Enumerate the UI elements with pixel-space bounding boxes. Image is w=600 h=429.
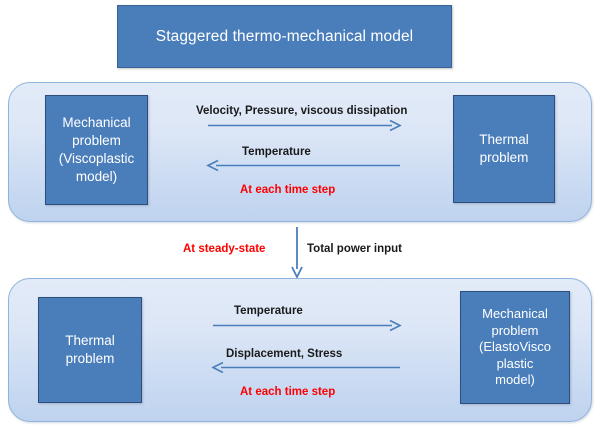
arrow-left-bottom bbox=[213, 362, 400, 373]
arrow-label-velocity-pressure-dissipation: Velocity, Pressure, viscous dissipation bbox=[196, 105, 407, 117]
thermal-problem-box-bottom: Thermal problem bbox=[38, 297, 142, 403]
mechanical-elastoviscoplastic-box: Mechanical problem (ElastoVisco plastic … bbox=[460, 291, 570, 404]
thermal-problem-label-bottom: Thermal problem bbox=[61, 332, 119, 368]
arrow-right-top bbox=[208, 120, 400, 131]
arrow-label-temperature-top: Temperature bbox=[242, 146, 311, 158]
mechanical-viscoplastic-label: Mechanical problem (Viscoplastic model) bbox=[55, 114, 139, 186]
note-at-steady-state: At steady-state bbox=[183, 243, 265, 255]
arrow-label-displacement-stress: Displacement, Stress bbox=[226, 348, 342, 360]
thermal-problem-label-top: Thermal problem bbox=[475, 131, 533, 167]
diagram-title-box: Staggered thermo-mechanical model bbox=[117, 5, 452, 68]
mechanical-viscoplastic-box: Mechanical problem (Viscoplastic model) bbox=[45, 95, 148, 205]
note-at-each-time-step-bottom: At each time step bbox=[240, 386, 335, 398]
arrow-down-connector bbox=[288, 227, 306, 277]
note-at-each-time-step-top: At each time step bbox=[240, 184, 335, 196]
arrow-label-temperature-bottom: Temperature bbox=[234, 305, 303, 317]
label-total-power-input: Total power input bbox=[307, 243, 402, 255]
mechanical-elastoviscoplastic-label: Mechanical problem (ElastoVisco plastic … bbox=[475, 306, 555, 389]
arrow-left-top bbox=[208, 160, 400, 171]
page-title: Staggered thermo-mechanical model bbox=[156, 28, 413, 46]
arrow-right-bottom bbox=[213, 320, 400, 331]
thermal-problem-box-top: Thermal problem bbox=[453, 95, 555, 203]
